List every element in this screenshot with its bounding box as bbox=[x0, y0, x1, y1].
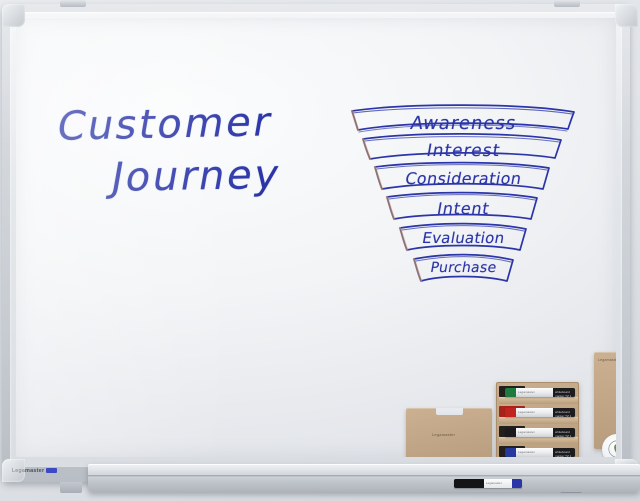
eraser-holder-logo-text: Legamaster bbox=[432, 432, 455, 437]
funnel-stage-label-1: Awareness bbox=[344, 113, 583, 134]
whiteboard-surface[interactable]: Customer Journey bbox=[16, 17, 616, 457]
marker-cap-red bbox=[505, 408, 516, 417]
holder-notch bbox=[436, 408, 463, 415]
eco-leaf-icon bbox=[607, 439, 616, 457]
title-line-1: Customer bbox=[54, 100, 332, 148]
rail-marker-blue[interactable]: Legamaster bbox=[454, 479, 522, 488]
marker-tail: whiteboard marker TZ 1 bbox=[553, 448, 575, 457]
funnel-stage-label-5: Evaluation bbox=[344, 229, 582, 247]
pen-rail[interactable]: Legamaster bbox=[88, 464, 640, 492]
eraser-holder-logo: Legamaster bbox=[432, 432, 455, 437]
marker-tail-text: whiteboard marker TZ 1 bbox=[555, 410, 575, 417]
marker-red[interactable]: Legamaster whiteboard marker TZ 1 bbox=[505, 408, 575, 417]
marker-cap-green bbox=[505, 388, 516, 397]
tray-slot-1[interactable]: Legamaster whiteboard marker TZ 1 bbox=[499, 386, 578, 404]
funnel-stage-label-3: Consideration bbox=[344, 169, 582, 188]
marker-tray[interactable]: Legamaster whiteboard marker TZ 1 Legama… bbox=[496, 382, 579, 457]
rail-marker-tail bbox=[454, 479, 484, 488]
marker-label: Legamaster bbox=[518, 430, 535, 434]
funnel-diagram: Awareness Interest Consideration Intent … bbox=[346, 101, 581, 336]
eraser-holder[interactable]: Legamaster bbox=[406, 408, 492, 457]
rail-bracket-left bbox=[60, 482, 82, 493]
marker-barrel: Legamaster bbox=[516, 388, 553, 397]
rail-marker-label: Legamaster bbox=[486, 481, 502, 485]
funnel-outline bbox=[346, 101, 581, 336]
marker-cap-black bbox=[505, 428, 516, 437]
marker-barrel: Legamaster bbox=[516, 408, 553, 417]
tray-slot-4[interactable]: Legamaster whiteboard marker TZ 1 bbox=[499, 446, 578, 457]
marker-black[interactable]: Legamaster whiteboard marker TZ 1 bbox=[505, 428, 575, 437]
marker-tail-text: whiteboard marker TZ 1 bbox=[555, 390, 575, 397]
marker-cap-blue bbox=[505, 448, 516, 457]
marker-tail-text: whiteboard marker TZ 1 bbox=[555, 450, 575, 457]
marker-barrel: Legamaster bbox=[516, 428, 553, 437]
wall-mount-clip-left bbox=[60, 0, 86, 7]
pen-rail-groove bbox=[88, 475, 640, 477]
marker-tail: whiteboard marker TZ 1 bbox=[553, 428, 575, 437]
vertical-pack-logo: Legamaster bbox=[598, 358, 616, 362]
marker-barrel: Legamaster bbox=[516, 448, 553, 457]
marker-tail: whiteboard marker TZ 1 bbox=[553, 408, 575, 417]
rail-marker-barrel: Legamaster bbox=[484, 479, 512, 488]
board-brand-logo: Legamaster bbox=[12, 468, 57, 474]
vertical-pack-logo-text: Legamaster bbox=[598, 358, 616, 362]
tray-slot-3[interactable]: Legamaster whiteboard marker TZ 1 bbox=[499, 426, 578, 444]
funnel-stage-label-6: Purchase bbox=[345, 260, 583, 276]
brand-text-light: Lega bbox=[12, 468, 25, 474]
whiteboard-scene: Customer Journey bbox=[0, 0, 640, 501]
marker-label: Legamaster bbox=[518, 410, 535, 414]
frame-corner-top-left bbox=[2, 4, 25, 27]
handwritten-title: Customer Journey bbox=[58, 103, 328, 197]
marker-tail: whiteboard marker TZ 1 bbox=[553, 388, 575, 397]
title-line-2: Journey bbox=[108, 153, 332, 199]
tray-slot-2[interactable]: Legamaster whiteboard marker TZ 1 bbox=[499, 406, 578, 424]
tray-shelf bbox=[499, 397, 578, 404]
marker-blue[interactable]: Legamaster whiteboard marker TZ 1 bbox=[505, 448, 575, 457]
brand-text-bold: master bbox=[25, 468, 44, 474]
funnel-stage-label-2: Interest bbox=[344, 141, 583, 161]
whiteboard-frame: Customer Journey bbox=[2, 4, 630, 482]
brand-swatch-icon bbox=[46, 468, 57, 473]
tray-shelf bbox=[499, 417, 578, 424]
marker-label: Legamaster bbox=[518, 390, 535, 394]
frame-corner-top-right bbox=[615, 4, 638, 27]
marker-green[interactable]: Legamaster whiteboard marker TZ 1 bbox=[505, 388, 575, 397]
tray-shelf bbox=[499, 437, 578, 444]
wall-mount-clip-right bbox=[554, 0, 580, 7]
marker-label: Legamaster bbox=[518, 450, 535, 454]
rail-marker-cap bbox=[512, 479, 522, 488]
funnel-stage-label-4: Intent bbox=[344, 199, 582, 218]
marker-tail-text: whiteboard marker TZ 1 bbox=[555, 430, 575, 437]
